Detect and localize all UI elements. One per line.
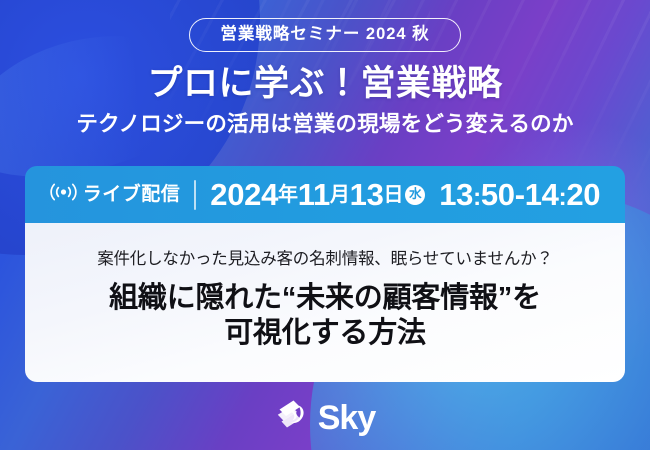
broadcast-wave-icon bbox=[50, 182, 77, 207]
banner-content: 営業戦略セミナー 2024 秋 プロに学ぶ！営業戦略 テクノロジーの活用は営業の… bbox=[0, 0, 650, 450]
card-headline-line-1: 組織に隠れた“未来の顧客情報”を bbox=[109, 281, 541, 316]
time-start-minute: 50 bbox=[481, 177, 515, 212]
brand-logo-text: Sky bbox=[318, 401, 376, 435]
sky-swirl-logo-icon bbox=[275, 398, 311, 437]
live-label: ライブ配信 bbox=[83, 185, 181, 204]
card-headline: 組織に隠れた“未来の顧客情報”を 可視化する方法 bbox=[109, 281, 541, 352]
event-day: 13 bbox=[350, 179, 384, 210]
brand-logo: Sky bbox=[0, 398, 650, 437]
month-unit: 月 bbox=[330, 185, 350, 205]
event-time: 13:50-14:20 bbox=[439, 179, 600, 210]
card-headline-line-2: 可視化する方法 bbox=[109, 316, 541, 351]
seminar-badge: 営業戦略セミナー 2024 秋 bbox=[189, 18, 460, 52]
live-badge: ライブ配信 bbox=[50, 182, 181, 207]
badge-container: 営業戦略セミナー 2024 秋 bbox=[0, 0, 650, 52]
event-datetime: 2024 年 11 月 13 日 水 13:50-14:20 bbox=[210, 179, 600, 210]
card-lead-text: 案件化しなかった見込み客の名刺情報、眠らせていませんか？ bbox=[97, 250, 553, 270]
divider bbox=[194, 180, 196, 210]
time-end-minute: 20 bbox=[566, 177, 600, 212]
event-year: 2024 bbox=[210, 179, 278, 210]
time-colon-start: : bbox=[473, 184, 481, 211]
time-end-hour: 14 bbox=[525, 177, 559, 212]
topic-card: 案件化しなかった見込み客の名刺情報、眠らせていませんか？ 組織に隠れた“未来の顧… bbox=[25, 223, 625, 382]
year-unit: 年 bbox=[278, 185, 298, 205]
day-of-week-badge: 水 bbox=[405, 185, 425, 205]
time-start-hour: 13 bbox=[439, 177, 473, 212]
page-subtitle: テクノロジーの活用は営業の現場をどう変えるのか bbox=[0, 112, 650, 137]
page-title: プロに学ぶ！営業戦略 bbox=[0, 65, 650, 104]
time-separator: - bbox=[515, 177, 525, 212]
event-month: 11 bbox=[298, 179, 330, 210]
live-date-bar: ライブ配信 2024 年 11 月 13 日 水 13:50-14:20 bbox=[25, 166, 625, 223]
day-unit: 日 bbox=[384, 185, 404, 205]
seminar-banner: 営業戦略セミナー 2024 秋 プロに学ぶ！営業戦略 テクノロジーの活用は営業の… bbox=[0, 0, 650, 450]
